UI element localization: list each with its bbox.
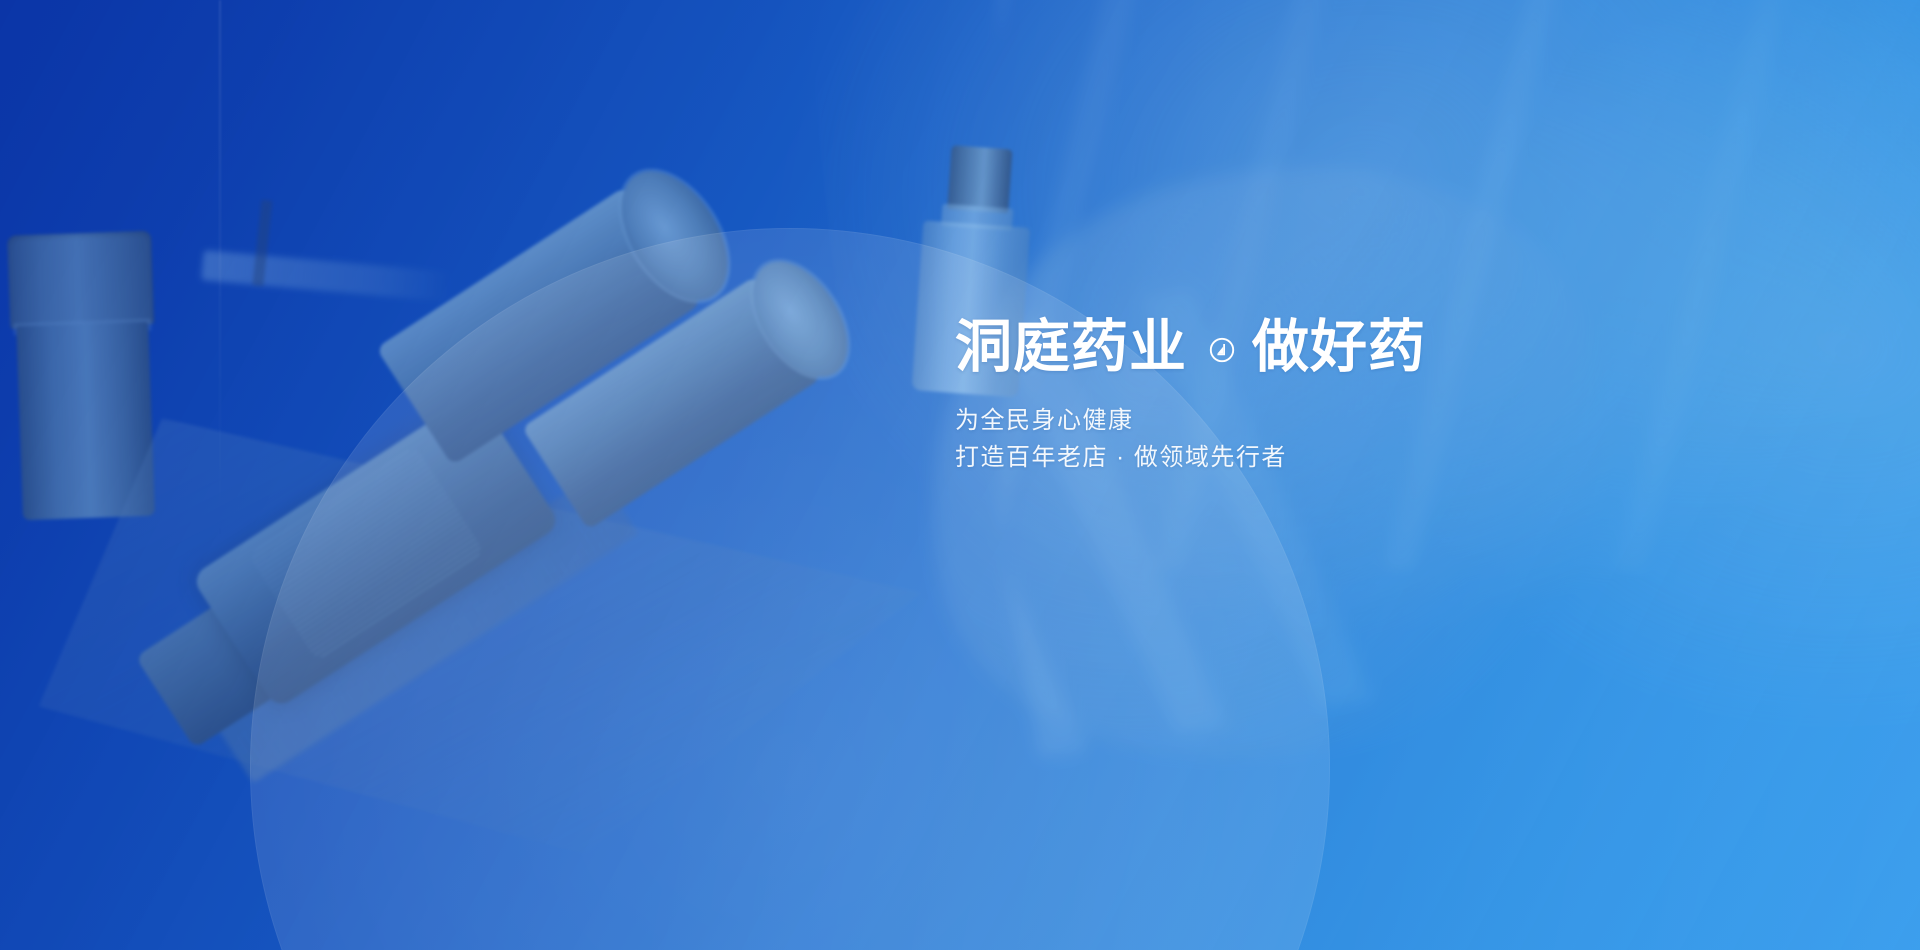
headline-slogan-text: 做好药 (1252, 316, 1426, 380)
dongting-logo-icon (1209, 337, 1235, 363)
hero-subtitle-line-2: 打造百年老店 · 做领域先行者 (955, 439, 1426, 476)
hero-banner: 洞庭药业 做好药 为全民身心健康 打造百年老店 · 做领域先行者 (0, 0, 1920, 950)
hero-copy-block: 洞庭药业 做好药 为全民身心健康 打造百年老店 · 做领域先行者 (955, 316, 1426, 477)
headline-brand-text: 洞庭药业 (955, 316, 1187, 380)
hero-headline: 洞庭药业 做好药 (955, 316, 1426, 380)
hero-subtitle-line-1: 为全民身心健康 (955, 402, 1426, 439)
